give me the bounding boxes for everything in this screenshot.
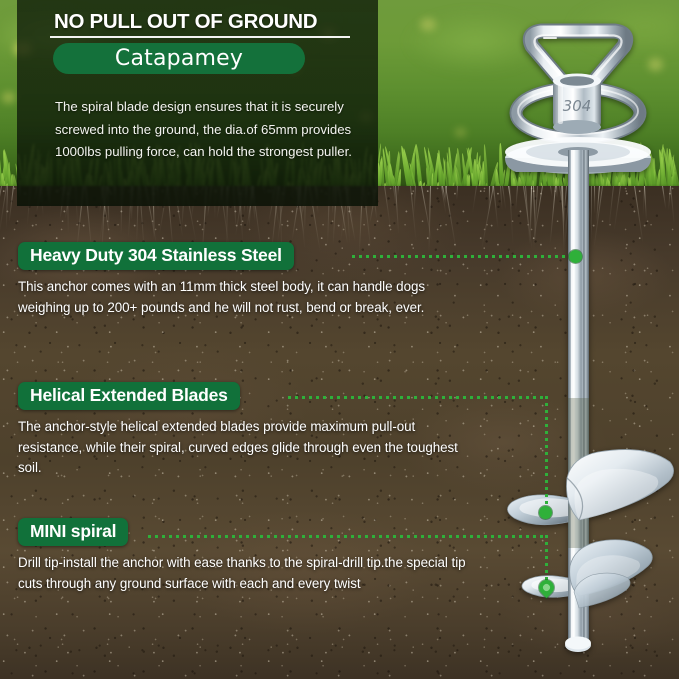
feature-1-description: This anchor comes with an 11mm thick ste… — [18, 277, 478, 318]
infographic-canvas: 304 — [0, 0, 679, 679]
feature-block-heavy-duty: Heavy Duty 304 Stainless Steel This anch… — [18, 242, 478, 318]
anchor-collar: 304 — [553, 74, 601, 135]
soil-root — [397, 186, 399, 196]
page-title: NO PULL OUT OF GROUND — [54, 10, 354, 34]
feature-3-badge: MINI spiral — [18, 518, 128, 546]
brand-name: Catapamey — [115, 46, 243, 71]
anchor-helical-blade-upper — [507, 450, 673, 525]
title-underline — [50, 36, 350, 38]
feature-1-badge: Heavy Duty 304 Stainless Steel — [18, 242, 294, 270]
soil-root — [9, 186, 14, 222]
feature-2-badge: Helical Extended Blades — [18, 382, 240, 410]
brand-badge: Catapamey — [53, 43, 305, 74]
feature-block-helical-blades: Helical Extended Blades The anchor-style… — [18, 382, 478, 479]
header-overlay-panel: NO PULL OUT OF GROUND Catapamey The spir… — [17, 0, 378, 206]
steel-grade-stamp: 304 — [563, 97, 592, 115]
soil-root — [6, 186, 8, 229]
feature-3-description: Drill tip-install the anchor with ease t… — [18, 553, 478, 594]
feature-block-mini-spiral: MINI spiral Drill tip-install the anchor… — [18, 518, 478, 594]
soil-root — [414, 186, 417, 215]
header-description: The spiral blade design ensures that it … — [55, 96, 355, 164]
soil-root — [384, 186, 391, 229]
feature-2-description: The anchor-style helical extended blades… — [18, 417, 478, 479]
